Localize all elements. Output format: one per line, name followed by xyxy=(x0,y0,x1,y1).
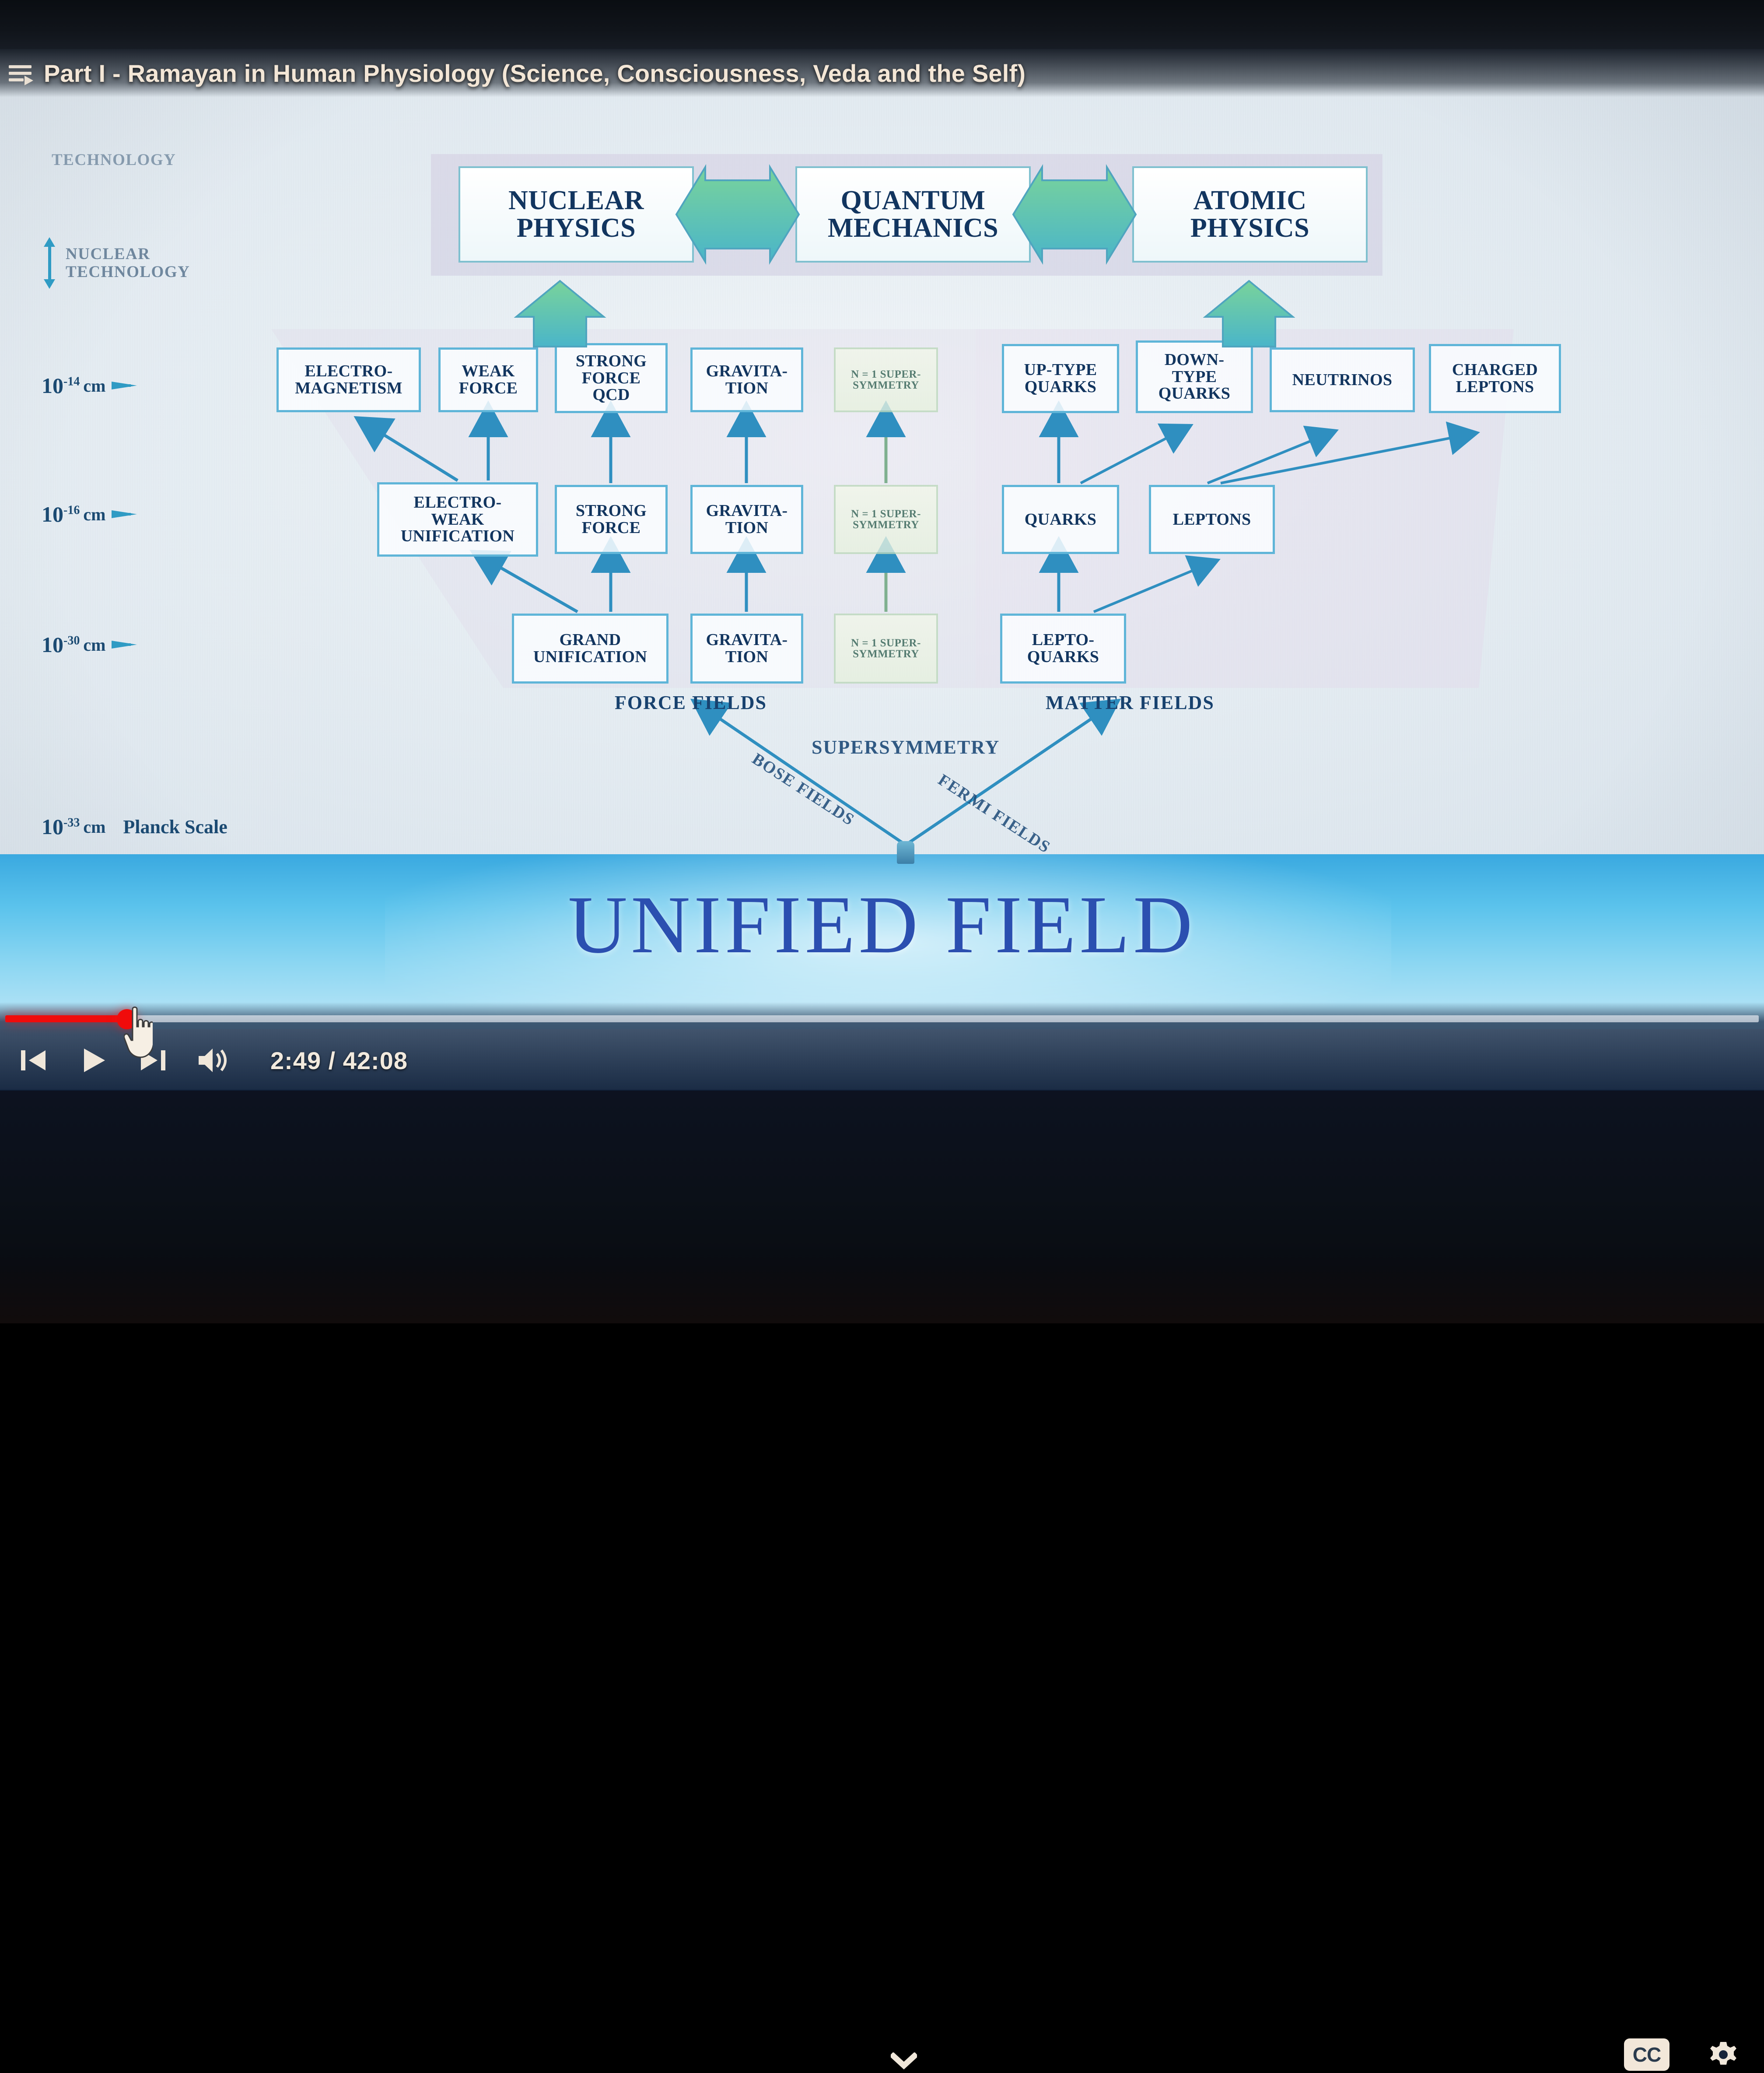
box-grand-unification[interactable]: GRAND UNIFICATION xyxy=(512,614,668,684)
scale-exponent: -30 xyxy=(63,634,80,647)
presentation-slide: NUCLEAR PHYSICS QUANTUM MECHANICS ATOMIC… xyxy=(0,49,1764,1091)
double-arrow-quantum-atomic xyxy=(1013,167,1136,262)
scale-base: 10 xyxy=(42,632,63,657)
playlist-icon[interactable] xyxy=(9,63,34,85)
video-player[interactable]: NUCLEAR PHYSICS QUANTUM MECHANICS ATOMIC… xyxy=(0,49,1764,1091)
box-label: STRONG FORCE xyxy=(576,502,647,537)
box-label: LEPTONS xyxy=(1173,511,1251,528)
pointer-arrow-icon xyxy=(112,641,177,649)
box-gravitation-tier30[interactable]: GRAVITA- TION xyxy=(690,614,803,684)
scale-unit: cm xyxy=(83,635,105,655)
box-quarks[interactable]: QUARKS xyxy=(1002,485,1119,554)
box-electroweak-unification[interactable]: ELECTRO- WEAK UNIFICATION xyxy=(377,482,538,557)
screen-bezel-top xyxy=(0,0,1764,49)
box-label: GRAVITA- TION xyxy=(706,631,788,666)
volume-button[interactable] xyxy=(196,1044,228,1077)
box-supersymmetry-tier16[interactable]: N = 1 SUPER- SYMMETRY xyxy=(834,485,938,554)
scale-label-10e-16: 10-16 cm xyxy=(42,502,177,527)
unified-field-label: UNIFIED FIELD xyxy=(0,877,1764,972)
playback-buttons: 2:49 / 42:08 xyxy=(17,1036,408,1084)
double-arrow-nuclear-quantum xyxy=(676,167,799,262)
scale-base: 10 xyxy=(42,814,63,839)
box-label: N = 1 SUPER- SYMMETRY xyxy=(851,638,921,660)
previous-button[interactable] xyxy=(17,1044,50,1077)
box-strong-force-tier16[interactable]: STRONG FORCE xyxy=(555,485,668,554)
big-up-arrows xyxy=(0,49,1764,443)
chevron-down-icon[interactable] xyxy=(891,2052,917,2072)
cc-label: CC xyxy=(1633,2043,1661,2066)
scale-unit: cm xyxy=(83,504,105,525)
hand-cursor-icon xyxy=(124,1005,153,1061)
convergence-node xyxy=(897,841,914,864)
up-arrow-to-nuclear-physics xyxy=(516,281,604,347)
box-leptons[interactable]: LEPTONS xyxy=(1149,485,1275,554)
captions-button[interactable]: CC xyxy=(1624,2038,1669,2071)
box-label: LEPTO- QUARKS xyxy=(1027,631,1099,666)
scale-exponent: -16 xyxy=(63,503,80,517)
box-gravitation-tier16[interactable]: GRAVITA- TION xyxy=(690,485,803,554)
planck-scale-note: Planck Scale xyxy=(123,816,227,838)
video-title-bar: Part I - Ramayan in Human Physiology (Sc… xyxy=(0,49,1764,97)
box-label: QUARKS xyxy=(1025,511,1096,528)
time-display: 2:49 / 42:08 xyxy=(270,1046,408,1075)
caption-matter-fields: MATTER FIELDS xyxy=(1046,691,1214,714)
device-frame: NUCLEAR PHYSICS QUANTUM MECHANICS ATOMIC… xyxy=(0,0,1764,1323)
video-title[interactable]: Part I - Ramayan in Human Physiology (Sc… xyxy=(44,59,1025,88)
screen-bezel-bottom xyxy=(0,1090,1764,1323)
box-label: GRAVITA- TION xyxy=(706,502,788,537)
box-label: ELECTRO- WEAK UNIFICATION xyxy=(401,494,514,545)
progress-bar-track[interactable] xyxy=(5,1015,1759,1022)
scale-label-10e-33-planck: 10-33 cm Planck Scale xyxy=(42,814,227,839)
scale-unit: cm xyxy=(83,817,105,837)
scale-base: 10 xyxy=(42,502,63,526)
box-label: GRAND UNIFICATION xyxy=(533,631,647,666)
play-button[interactable] xyxy=(77,1044,109,1077)
caption-force-fields: FORCE FIELDS xyxy=(615,691,767,714)
box-supersymmetry-tier30[interactable]: N = 1 SUPER- SYMMETRY xyxy=(834,614,938,684)
scale-label-10e-30: 10-30 cm xyxy=(42,632,177,657)
box-label: N = 1 SUPER- SYMMETRY xyxy=(851,509,921,531)
right-controls: CC xyxy=(1624,2038,1739,2071)
caption-supersymmetry: SUPERSYMMETRY xyxy=(812,736,1000,758)
pointer-arrow-icon xyxy=(112,510,177,518)
progress-bar-played xyxy=(5,1015,129,1022)
box-lepto-quarks[interactable]: LEPTO- QUARKS xyxy=(1000,614,1126,684)
up-arrow-to-atomic-physics xyxy=(1205,281,1293,347)
video-controls-bar[interactable]: 2:49 / 42:08 CC xyxy=(0,1002,1764,1091)
settings-gear-icon[interactable] xyxy=(1707,2038,1739,2071)
scale-exponent: -33 xyxy=(63,816,80,829)
